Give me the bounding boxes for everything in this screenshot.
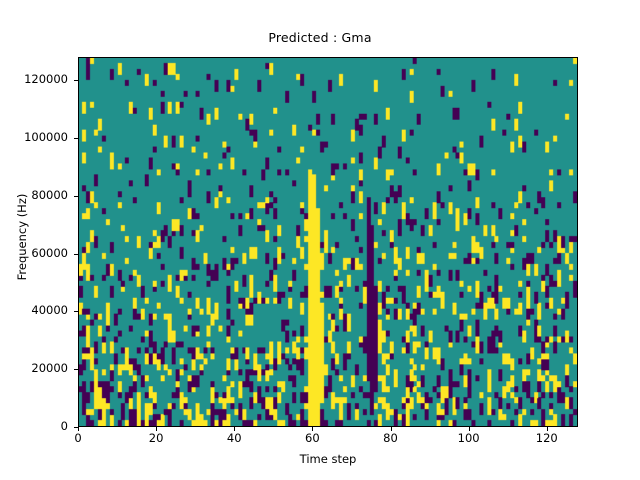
x-axis-label: Time step bbox=[78, 452, 578, 466]
y-tick-label: 80000 bbox=[4, 190, 68, 201]
x-tick-label: 0 bbox=[48, 432, 108, 444]
y-tick-mark bbox=[74, 138, 78, 139]
x-tick-label: 100 bbox=[439, 432, 499, 444]
y-tick-mark bbox=[74, 80, 78, 81]
heatmap-canvas bbox=[79, 58, 577, 426]
chart-title: Predicted : Gma bbox=[0, 30, 640, 45]
y-tick-label: 100000 bbox=[4, 132, 68, 143]
y-tick-label: 60000 bbox=[4, 248, 68, 259]
y-tick-mark bbox=[74, 369, 78, 370]
y-tick-label: 120000 bbox=[4, 74, 68, 85]
y-tick-label: 40000 bbox=[4, 305, 68, 316]
x-tick-label: 60 bbox=[282, 432, 342, 444]
y-axis-label: Frequency (Hz) bbox=[15, 137, 29, 337]
x-tick-label: 80 bbox=[361, 432, 421, 444]
y-tick-mark bbox=[74, 254, 78, 255]
y-tick-mark bbox=[74, 196, 78, 197]
x-tick-label: 20 bbox=[126, 432, 186, 444]
y-tick-mark bbox=[74, 311, 78, 312]
heatmap-axes bbox=[78, 57, 578, 427]
x-tick-label: 120 bbox=[517, 432, 577, 444]
y-tick-label: 0 bbox=[4, 421, 68, 432]
y-tick-label: 20000 bbox=[4, 363, 68, 374]
matplotlib-figure: Predicted : Gma 020000400006000080000100… bbox=[0, 0, 640, 480]
x-tick-label: 40 bbox=[204, 432, 264, 444]
